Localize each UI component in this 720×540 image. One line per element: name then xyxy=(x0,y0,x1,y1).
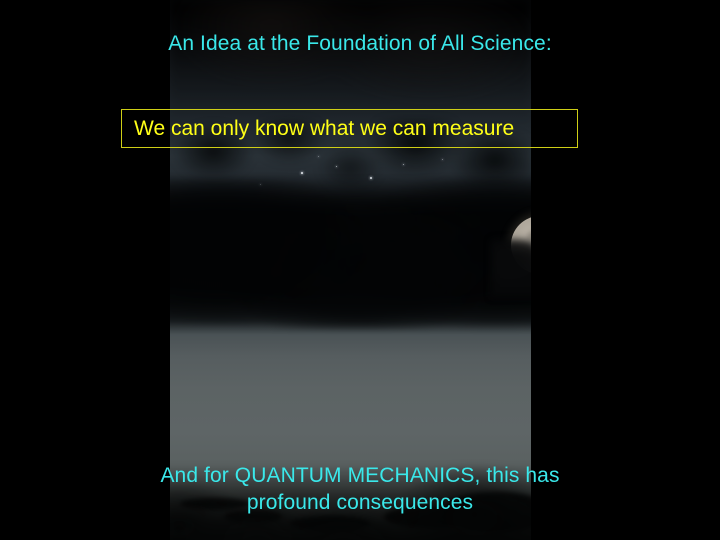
page-title: An Idea at the Foundation of All Science… xyxy=(0,30,720,57)
moon-cloud-occlusion xyxy=(491,239,531,297)
bottom-statement: And for QUANTUM MECHANICS, this has prof… xyxy=(0,462,720,516)
dark-cloud-band xyxy=(170,178,531,329)
star xyxy=(301,172,303,174)
moon xyxy=(511,216,531,274)
background-photo xyxy=(170,0,531,540)
callout-text: We can only know what we can measure xyxy=(122,117,514,141)
presentation-slide: An Idea at the Foundation of All Science… xyxy=(0,0,720,540)
callout-box: We can only know what we can measure xyxy=(121,109,578,148)
